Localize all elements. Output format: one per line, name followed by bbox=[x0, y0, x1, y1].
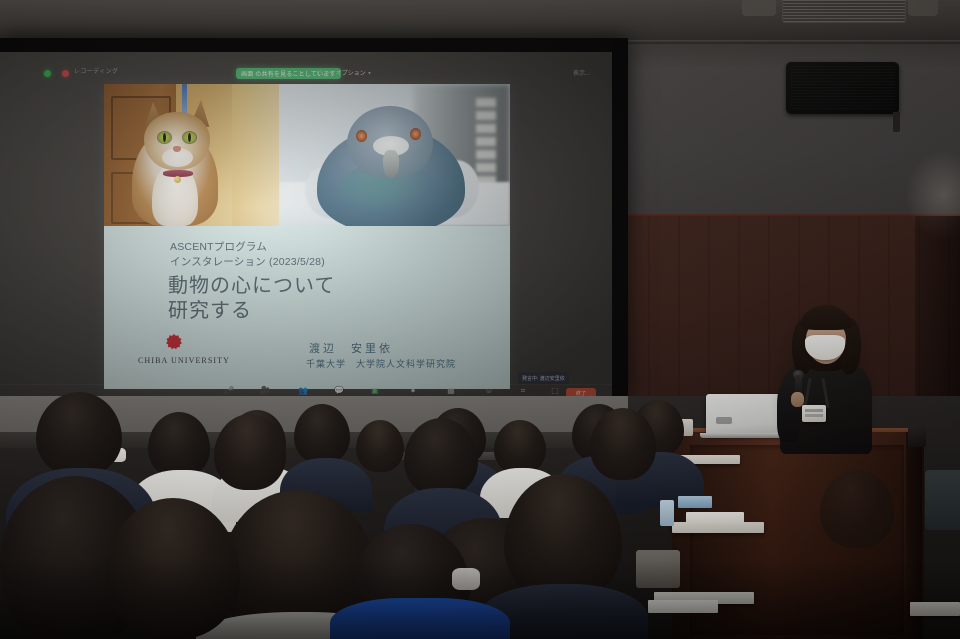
slide-photo-row bbox=[104, 84, 510, 226]
audience-head bbox=[36, 392, 122, 476]
cat-photo-wall bbox=[232, 84, 279, 226]
slide-program-line: ASCENTプログラム bbox=[170, 240, 325, 255]
slide-subtitle: ASCENTプログラム インスタレーション (2023/5/28) bbox=[170, 240, 325, 270]
cat-photo bbox=[104, 84, 279, 226]
audience-face-mask bbox=[452, 568, 480, 590]
chiba-university-logo-text: CHIBA UNIVERSITY bbox=[138, 356, 230, 365]
active-speaker-tooltip: 発言中: 渡辺安里依 bbox=[518, 372, 569, 384]
audience-head bbox=[214, 414, 286, 490]
audience-head bbox=[404, 418, 478, 496]
slide-title-line1: 動物の心について bbox=[168, 274, 335, 299]
chiba-university-logo-icon bbox=[166, 334, 182, 350]
audience-shoulders-blue bbox=[330, 598, 510, 639]
view-options-button[interactable]: ビュー オプション▾ bbox=[316, 68, 371, 77]
speaker-bracket bbox=[893, 112, 900, 132]
audience-head bbox=[148, 412, 210, 478]
audience-head bbox=[294, 404, 350, 464]
audience-head bbox=[494, 420, 546, 474]
wall-speaker-icon bbox=[786, 62, 899, 114]
projection-screen-top-edge bbox=[0, 38, 628, 52]
screen-right-border bbox=[612, 38, 628, 396]
slide-title-line2: 研究する bbox=[168, 299, 335, 324]
desk-papers bbox=[686, 512, 744, 524]
cat-nose bbox=[173, 146, 181, 152]
toolbar-divider bbox=[0, 384, 612, 385]
slide-session-line: インスタレーション (2023/5/28) bbox=[170, 255, 325, 270]
view-options-label: ビュー オプション bbox=[316, 71, 366, 77]
desk-booklet bbox=[678, 496, 712, 508]
pigeon-eye-right bbox=[410, 128, 421, 140]
object-on-podium-right bbox=[908, 425, 926, 447]
pigeon-photo bbox=[279, 84, 510, 226]
laptop-logo-icon bbox=[716, 417, 732, 424]
recording-label: レコーディング bbox=[74, 66, 118, 75]
slide-text-area: ASCENTプログラム インスタレーション (2023/5/28) 動物の心につ… bbox=[104, 226, 510, 389]
connection-status-dot-icon bbox=[44, 70, 51, 77]
audience-head bbox=[356, 420, 404, 472]
cat-pupil-left bbox=[163, 133, 166, 142]
slide-author: 渡辺 安里依 bbox=[309, 340, 393, 356]
presentation-slide: ASCENTプログラム インスタレーション (2023/5/28) 動物の心につ… bbox=[104, 84, 510, 389]
pigeon-beak bbox=[383, 150, 399, 178]
air-conditioning-vent-icon bbox=[782, 0, 906, 23]
audience-head bbox=[590, 408, 656, 480]
water-bottle bbox=[660, 500, 674, 526]
cat-pupil-right bbox=[188, 133, 191, 142]
lecture-hall-scene: レコーディング 画面 の共有を見ることしています ビュー オプション▾ 表示..… bbox=[0, 0, 960, 639]
ceiling-light-right bbox=[908, 0, 938, 16]
slide-title: 動物の心について 研究する bbox=[168, 274, 335, 324]
desk-papers bbox=[648, 600, 718, 613]
display-options-label: 表示... bbox=[573, 68, 590, 77]
ceiling-light-left bbox=[742, 0, 776, 16]
pigeon-eye-left bbox=[356, 130, 367, 142]
chair-right bbox=[925, 470, 960, 530]
recording-status-dot-icon bbox=[62, 70, 69, 77]
presenter-name-badge bbox=[802, 405, 826, 422]
audience-head bbox=[820, 470, 894, 548]
cat-collar-bell bbox=[174, 176, 181, 183]
chair-back bbox=[636, 550, 680, 588]
chevron-down-icon: ▾ bbox=[368, 71, 370, 77]
slide-affiliation: 千葉大学 大学院人文科学研究院 bbox=[306, 357, 456, 370]
desk-right bbox=[910, 602, 960, 616]
